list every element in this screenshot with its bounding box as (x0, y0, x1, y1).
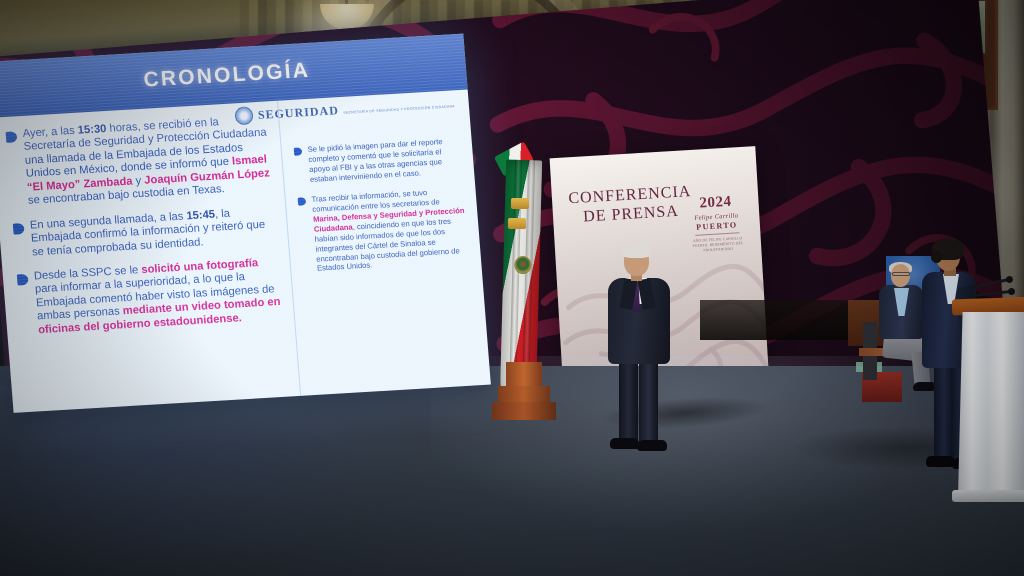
slide-left-column: Ayer, a las 15:30 horas, se recibió en l… (0, 101, 300, 413)
floor-highlight-blue (0, 386, 420, 576)
slide-title-text: CRONOLOGÍA (143, 59, 311, 93)
microphone-head (1006, 276, 1013, 283)
text-run: y (132, 175, 145, 188)
podium (958, 298, 1024, 498)
podium-body (958, 312, 1024, 498)
projection-screen: CRONOLOGÍA SEGURIDAD SECRETARÍA DE SEGUR… (0, 34, 491, 413)
text-run: Se le pidió la imagen para dar el report… (307, 137, 443, 183)
slide-bullet: En una segunda llamada, a las 15:45, la … (13, 205, 279, 261)
emphasized-term: 15:30 (77, 123, 107, 137)
slide-bullet-text: Desde la SSPC se le solicitó una fotogra… (34, 256, 285, 338)
flag-band-upper (511, 198, 529, 209)
bullet-marker-icon (13, 223, 25, 235)
emphasized-term: 15:45 (186, 208, 216, 222)
podium-base (952, 490, 1024, 502)
glasses-icon (892, 272, 910, 276)
glasses-icon (944, 252, 961, 258)
screenshot-stage: CONFERENCIA DE PRENSA 2024 Felipe Carril… (0, 0, 1024, 576)
bullet-marker-icon (293, 147, 302, 155)
slide-bullet-text: Tras recibir la información, se tuvo com… (311, 186, 469, 274)
slide-bullet-text: Ayer, a las 15:30 horas, se recibió en l… (22, 113, 274, 208)
microphone-head (1008, 288, 1015, 295)
slide-columns: Ayer, a las 15:30 horas, se recibió en l… (0, 89, 491, 412)
slide-bullet: Se le pidió la imagen para dar el report… (293, 136, 462, 185)
slide-bullet: Tras recibir la información, se tuvo com… (297, 186, 469, 274)
slide-bullet: Desde la SSPC se le solicitó una fotogra… (17, 256, 285, 339)
slide-bullet-text: En una segunda llamada, a las 15:45, la … (29, 205, 278, 260)
flag-band-lower (508, 218, 526, 229)
slide-right-column: Se le pidió la imagen para dar el report… (277, 89, 491, 395)
slide-bullet: Ayer, a las 15:30 horas, se recibió en l… (5, 113, 274, 209)
bullet-marker-icon (6, 131, 18, 143)
slide-bullet-text: Se le pidió la imagen para dar el report… (307, 136, 462, 184)
bullet-marker-icon (17, 274, 29, 286)
man-standing-center (592, 246, 688, 454)
bullet-marker-icon (297, 198, 306, 206)
flag-wooden-base (494, 362, 554, 420)
